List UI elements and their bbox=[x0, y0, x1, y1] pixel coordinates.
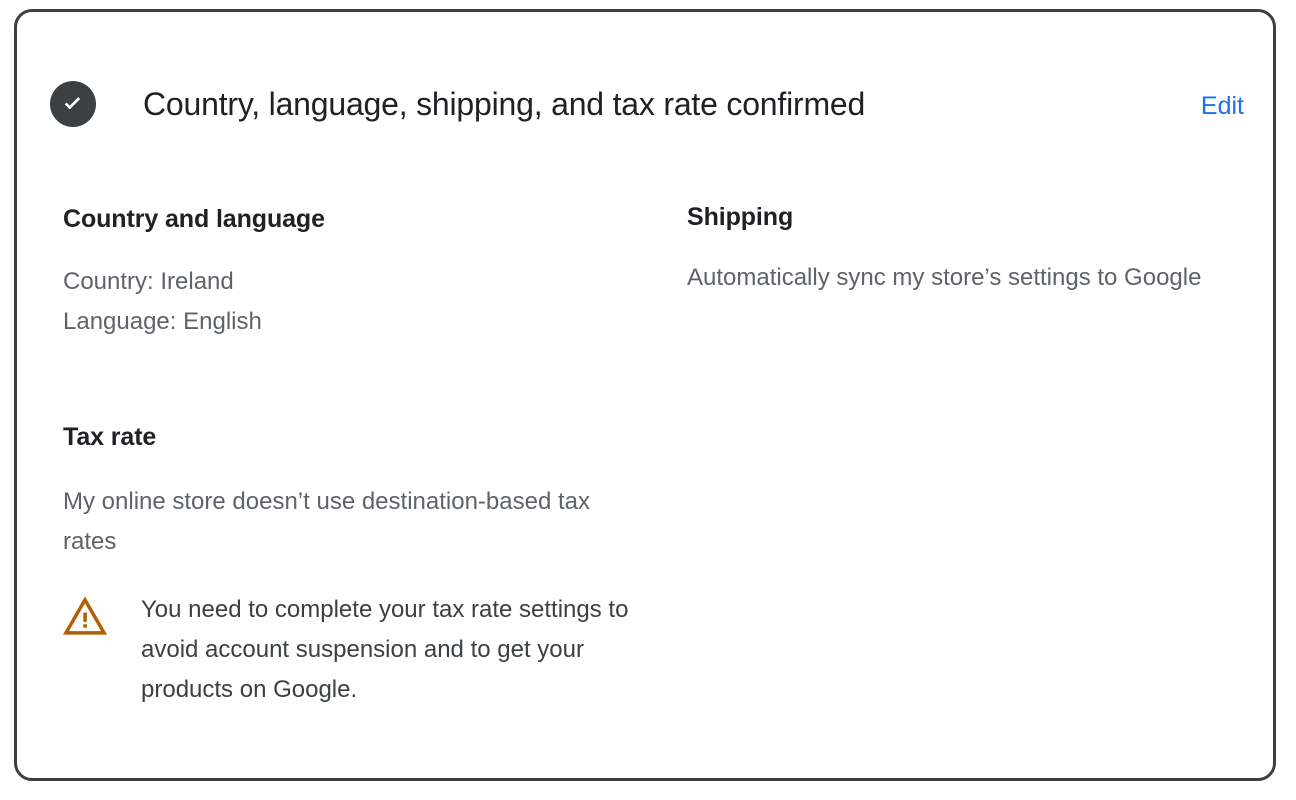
left-column: Country and language Country: Ireland La… bbox=[63, 202, 633, 342]
shipping-heading: Shipping bbox=[687, 200, 1232, 234]
warning-message: You need to complete your tax rate setti… bbox=[107, 590, 643, 710]
page-title: Country, language, shipping, and tax rat… bbox=[143, 80, 865, 128]
warning-triangle-icon bbox=[63, 594, 107, 638]
country-and-language-heading: Country and language bbox=[63, 202, 633, 236]
section-shipping: Shipping Automatically sync my store’s s… bbox=[687, 200, 1232, 298]
language-value: Language: English bbox=[63, 302, 633, 342]
tax-rate-heading: Tax rate bbox=[63, 420, 633, 454]
edit-button[interactable]: Edit bbox=[1201, 89, 1244, 123]
section-tax-rate: Tax rate My online store doesn’t use des… bbox=[63, 420, 633, 562]
shipping-value: Automatically sync my store’s settings t… bbox=[687, 258, 1232, 298]
country-value: Country: Ireland bbox=[63, 262, 633, 302]
card-header: Country, language, shipping, and tax rat… bbox=[17, 12, 1273, 142]
confirmation-card: Country, language, shipping, and tax rat… bbox=[14, 9, 1276, 781]
right-column: Shipping Automatically sync my store’s s… bbox=[687, 200, 1232, 298]
section-country-and-language: Country and language Country: Ireland La… bbox=[63, 202, 633, 342]
tax-rate-value: My online store doesn’t use destination-… bbox=[63, 482, 633, 562]
check-circle-icon bbox=[50, 81, 96, 127]
tax-rate-warning: You need to complete your tax rate setti… bbox=[63, 590, 643, 710]
